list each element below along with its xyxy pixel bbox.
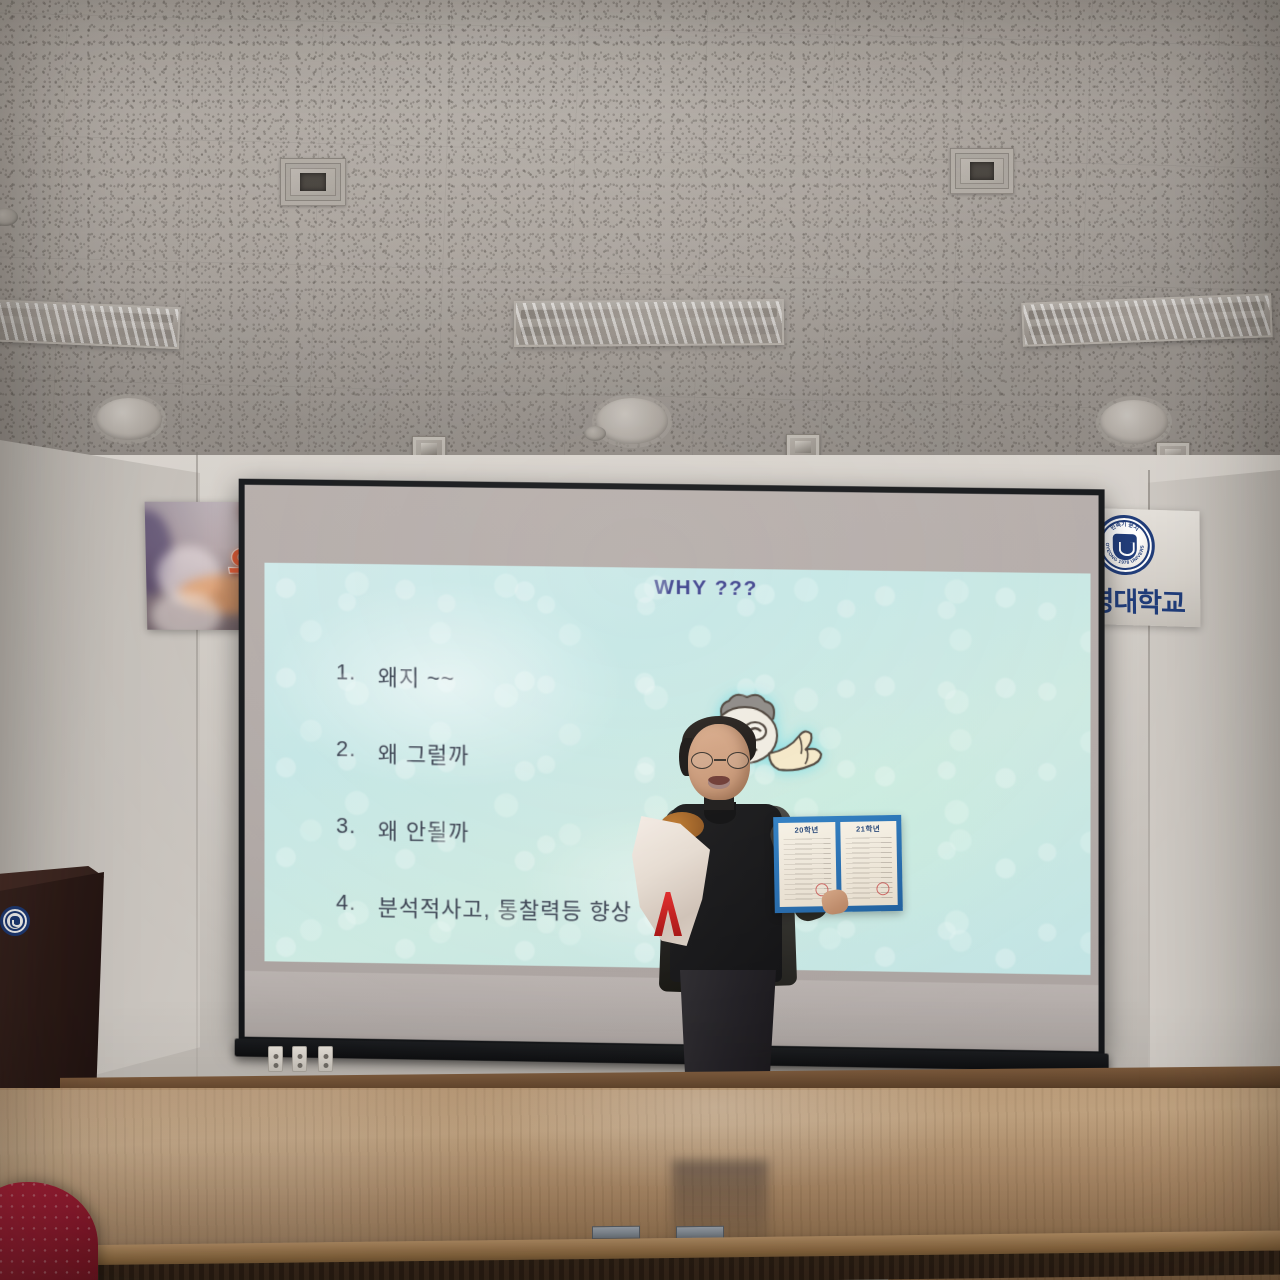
wall-outlet [292, 1046, 307, 1072]
stage-floor-plate [592, 1226, 640, 1240]
ceiling-air-vent [280, 158, 346, 206]
list-item-text: 왜 안될까 [378, 814, 470, 847]
smoke-detector [0, 208, 18, 226]
certificate-left-header: 20학년 [778, 824, 835, 836]
fluorescent-light-fixture [514, 299, 784, 347]
list-item-number: 4. [336, 890, 362, 922]
list-item-number: 2. [336, 736, 362, 768]
fluorescent-light-fixture [0, 297, 181, 349]
list-item-text: 왜 그럴까 [378, 737, 470, 770]
auditorium-photo: 위드 민족기 문지 SEOYEONG 1978 UNIVERSITY 서영대학교 [0, 0, 1280, 1280]
list-item-number: 3. [336, 813, 362, 845]
fluorescent-light-fixture [1021, 293, 1273, 347]
slide-list-item: 1. 왜지 ~~ [336, 659, 632, 695]
slide-list-item: 2. 왜 그럴까 [336, 736, 632, 772]
wall-outlet [268, 1046, 283, 1072]
list-item-text: 왜지 ~~ [378, 660, 455, 693]
podium-emblem-icon [0, 906, 30, 936]
svg-text:민족기 문지: 민족기 문지 [1109, 520, 1141, 533]
ceiling-air-vent [950, 148, 1014, 194]
slide-title: WHY ??? [294, 571, 1090, 606]
slide-list-item: 3. 왜 안될까 [336, 813, 632, 850]
wall-outlet [318, 1046, 333, 1072]
ceiling [0, 0, 1280, 500]
bouquet-wrapping-paper [632, 816, 710, 946]
recessed-downlight [96, 398, 162, 440]
slide-list-item: 4. 분석적사고, 통찰력등 향상 [336, 890, 632, 927]
certificate-page-right: 21학년 [840, 821, 898, 906]
mouth [708, 776, 730, 789]
smoke-detector [584, 426, 606, 441]
eyeglasses-icon [690, 752, 750, 769]
flower-bouquet [632, 816, 710, 946]
list-item-text: 분석적사고, 통찰력등 향상 [378, 890, 632, 926]
recessed-downlight [596, 398, 668, 444]
certificate-right-header: 21학년 [840, 823, 897, 835]
recessed-downlight [1100, 400, 1168, 444]
slide-bullet-list: 1. 왜지 ~~ 2. 왜 그럴까 3. 왜 안될까 4. [336, 659, 632, 971]
list-item-number: 1. [336, 659, 362, 691]
